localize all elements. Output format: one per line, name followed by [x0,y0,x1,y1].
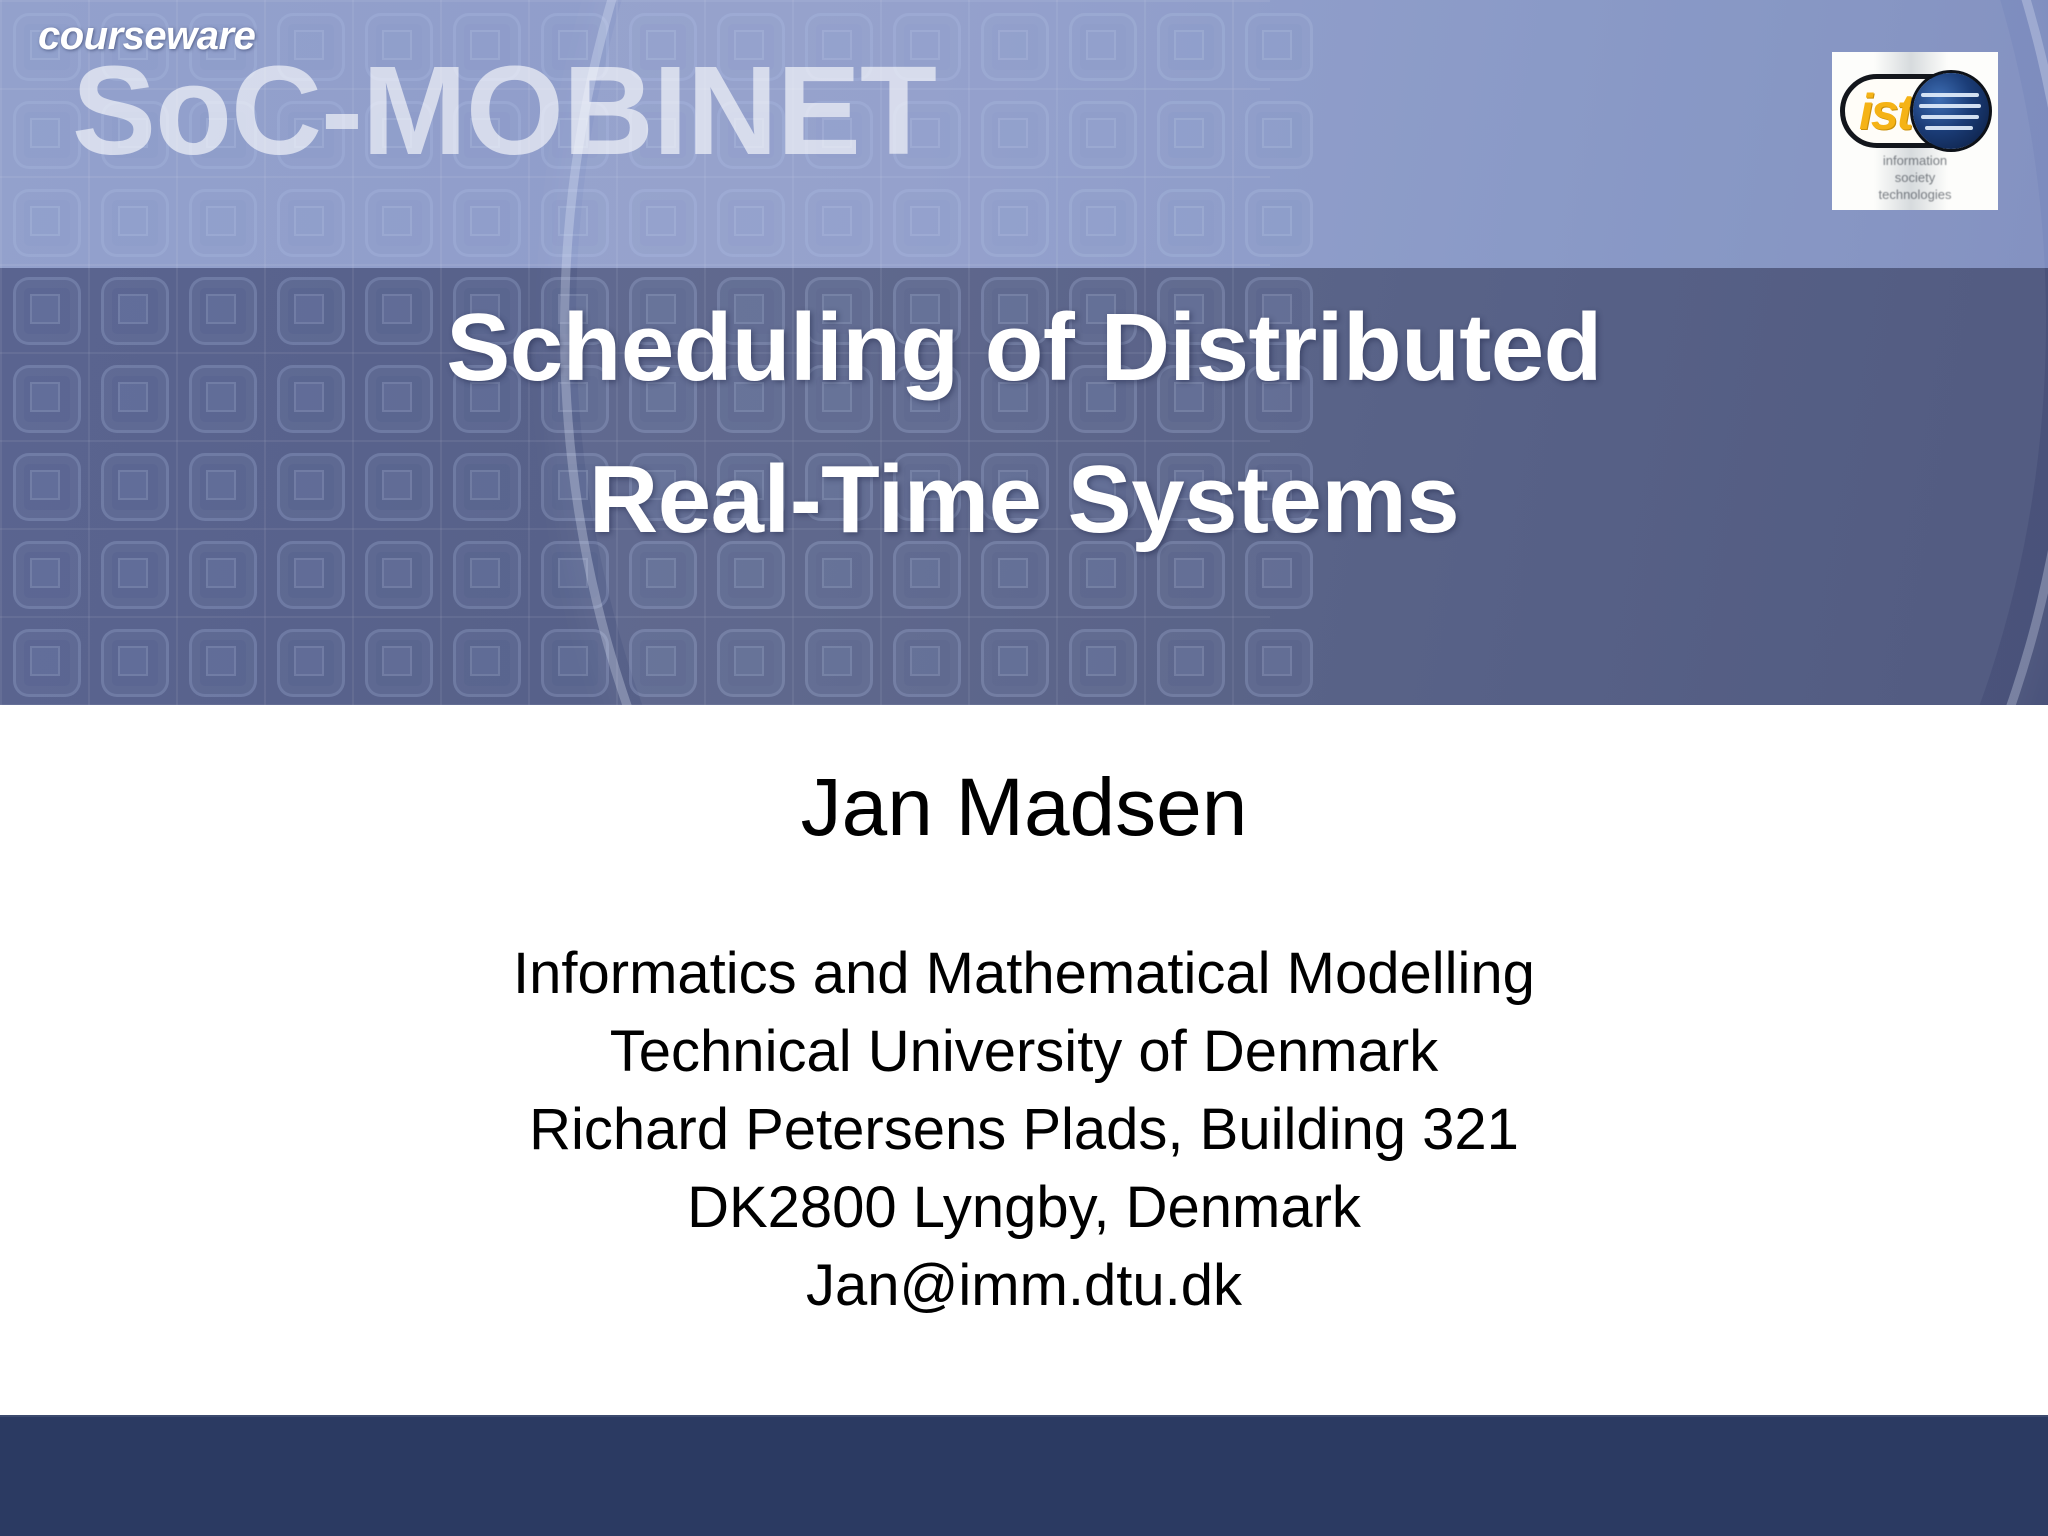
page-title: Scheduling of Distributed Real-Time Syst… [0,272,2048,576]
die-core [998,118,1028,148]
footer-bar [0,1415,2048,1536]
die-core [646,646,676,676]
die-core [998,30,1028,60]
affiliation-line: Technical University of Denmark [0,1013,2048,1091]
wafer-die-cell [453,189,521,257]
wafer-die-cell [101,629,169,697]
die-core [1262,206,1292,236]
wafer-die-cell [893,629,961,697]
affiliation-block: Informatics and Mathematical ModellingTe… [0,935,2048,1325]
title-line-1: Scheduling of Distributed [0,272,2048,424]
wafer-die-cell [13,629,81,697]
die-core [646,206,676,236]
die-core [118,646,148,676]
die-core [382,206,412,236]
die-core [822,206,852,236]
wafer-die-cell [1069,189,1137,257]
die-core [1174,30,1204,60]
wafer-die-cell [1157,101,1225,169]
affiliation-line: DK2800 Lyngby, Denmark [0,1169,2048,1247]
affiliation-line: Richard Petersens Plads, Building 321 [0,1091,2048,1169]
courseware-label: courseware [38,14,255,59]
die-core [1262,118,1292,148]
wafer-die-cell [981,629,1049,697]
ist-subtitle-line-3: technologies [1832,186,1998,203]
slide-body: Jan Madsen Informatics and Mathematical … [0,705,2048,1415]
ist-logo-wordmark: ist [1859,87,1911,137]
wafer-die-cell [101,189,169,257]
die-core [734,646,764,676]
wafer-die-cell [717,629,785,697]
wafer-die-cell [13,101,81,169]
affiliation-line: Informatics and Mathematical Modelling [0,935,2048,1013]
ist-logo-pill: ist [1840,74,1990,148]
wafer-die-cell [981,101,1049,169]
wafer-die-cell [365,189,433,257]
die-core [558,646,588,676]
wafer-die-cell [629,189,697,257]
wafer-die-cell [1157,189,1225,257]
wafer-die-cell [805,629,873,697]
die-core [470,206,500,236]
wafer-die-cell [277,189,345,257]
die-core [558,206,588,236]
affiliation-line: Jan@imm.dtu.dk [0,1247,2048,1325]
die-core [1174,118,1204,148]
wafer-die-cell [1245,13,1313,81]
ist-subtitle-line-2: society [1832,169,1998,186]
ist-subtitle-line-1: information [1832,152,1998,169]
die-core [294,206,324,236]
wafer-die-cell [541,189,609,257]
die-core [1262,646,1292,676]
wafer-die-cell [1157,13,1225,81]
die-core [294,646,324,676]
wafer-die-cell [453,629,521,697]
die-core [1174,646,1204,676]
die-core [118,206,148,236]
wafer-die-cell [365,629,433,697]
ist-logo: ist information society technologies [1832,52,1998,210]
wafer-die-cell [805,189,873,257]
wafer-die-cell [1245,101,1313,169]
die-core [998,646,1028,676]
wafer-die-cell [1245,629,1313,697]
soc-mobinet-wordmark: SoC-MOBINET [72,48,936,174]
wafer-die-cell [1157,629,1225,697]
die-core [1086,206,1116,236]
wafer-die-cell [629,629,697,697]
die-core [998,206,1028,236]
die-core [470,646,500,676]
wafer-die-cell [981,13,1049,81]
die-core [734,206,764,236]
die-core [1174,206,1204,236]
globe-icon [1913,73,1989,149]
wafer-die-cell [277,629,345,697]
title-line-2: Real-Time Systems [0,424,2048,576]
wafer-die-cell [981,189,1049,257]
die-core [206,646,236,676]
wafer-die-cell [717,189,785,257]
die-core [910,206,940,236]
author-name: Jan Madsen [0,767,2048,849]
wafer-die-cell [1069,629,1137,697]
wafer-die-cell [189,629,257,697]
die-core [1086,30,1116,60]
die-core [30,118,60,148]
ist-logo-subtitle: information society technologies [1832,152,1998,203]
die-core [822,646,852,676]
die-core [30,646,60,676]
die-core [206,206,236,236]
die-core [382,646,412,676]
slide-header-banner: SoC-MOBINET courseware ist information s… [0,0,2048,705]
wafer-die-cell [1069,13,1137,81]
die-core [30,206,60,236]
wafer-die-cell [189,189,257,257]
die-core [1086,118,1116,148]
die-core [910,646,940,676]
wafer-die-cell [541,629,609,697]
die-core [1262,30,1292,60]
wafer-die-cell [13,189,81,257]
die-core [1086,646,1116,676]
wafer-die-cell [1245,189,1313,257]
presentation-slide: SoC-MOBINET courseware ist information s… [0,0,2048,1536]
wafer-die-cell [893,189,961,257]
wafer-die-cell [1069,101,1137,169]
